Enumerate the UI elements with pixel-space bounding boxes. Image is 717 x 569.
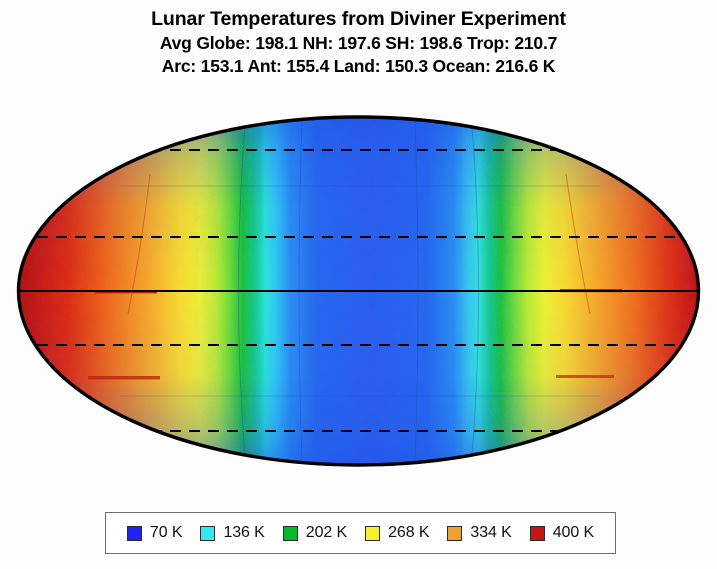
temperature-legend: 70 K 136 K 202 K 268 K 334 K 400 K bbox=[105, 512, 616, 554]
legend-swatch-70k bbox=[127, 526, 142, 541]
legend-item-268k[interactable]: 268 K bbox=[365, 524, 429, 542]
legend-item-136k[interactable]: 136 K bbox=[200, 524, 264, 542]
legend-item-202k[interactable]: 202 K bbox=[283, 524, 347, 542]
stats-line-primary: Avg Globe: 198.1 NH: 197.6 SH: 198.6 Tro… bbox=[0, 33, 717, 54]
legend-item-400k[interactable]: 400 K bbox=[530, 524, 594, 542]
legend-label-70k: 70 K bbox=[150, 524, 183, 542]
legend-label-268k: 268 K bbox=[388, 524, 429, 542]
page-title: Lunar Temperatures from Diviner Experime… bbox=[0, 8, 717, 31]
legend-label-400k: 400 K bbox=[553, 524, 594, 542]
legend-label-136k: 136 K bbox=[223, 524, 264, 542]
title-block: Lunar Temperatures from Diviner Experime… bbox=[0, 8, 717, 76]
mollweide-projection-svg bbox=[0, 104, 717, 484]
legend-swatch-268k bbox=[365, 526, 380, 541]
legend-items: 70 K 136 K 202 K 268 K 334 K 400 K bbox=[118, 524, 603, 542]
legend-label-334k: 334 K bbox=[470, 524, 511, 542]
legend-item-70k[interactable]: 70 K bbox=[127, 524, 183, 542]
stats-line-secondary: Arc: 153.1 Ant: 155.4 Land: 150.3 Ocean:… bbox=[0, 56, 717, 77]
legend-swatch-202k bbox=[283, 526, 298, 541]
legend-item-334k[interactable]: 334 K bbox=[447, 524, 511, 542]
legend-label-202k: 202 K bbox=[306, 524, 347, 542]
legend-swatch-136k bbox=[200, 526, 215, 541]
lunar-temperature-map bbox=[0, 104, 717, 484]
legend-swatch-334k bbox=[447, 526, 462, 541]
legend-swatch-400k bbox=[530, 526, 545, 541]
